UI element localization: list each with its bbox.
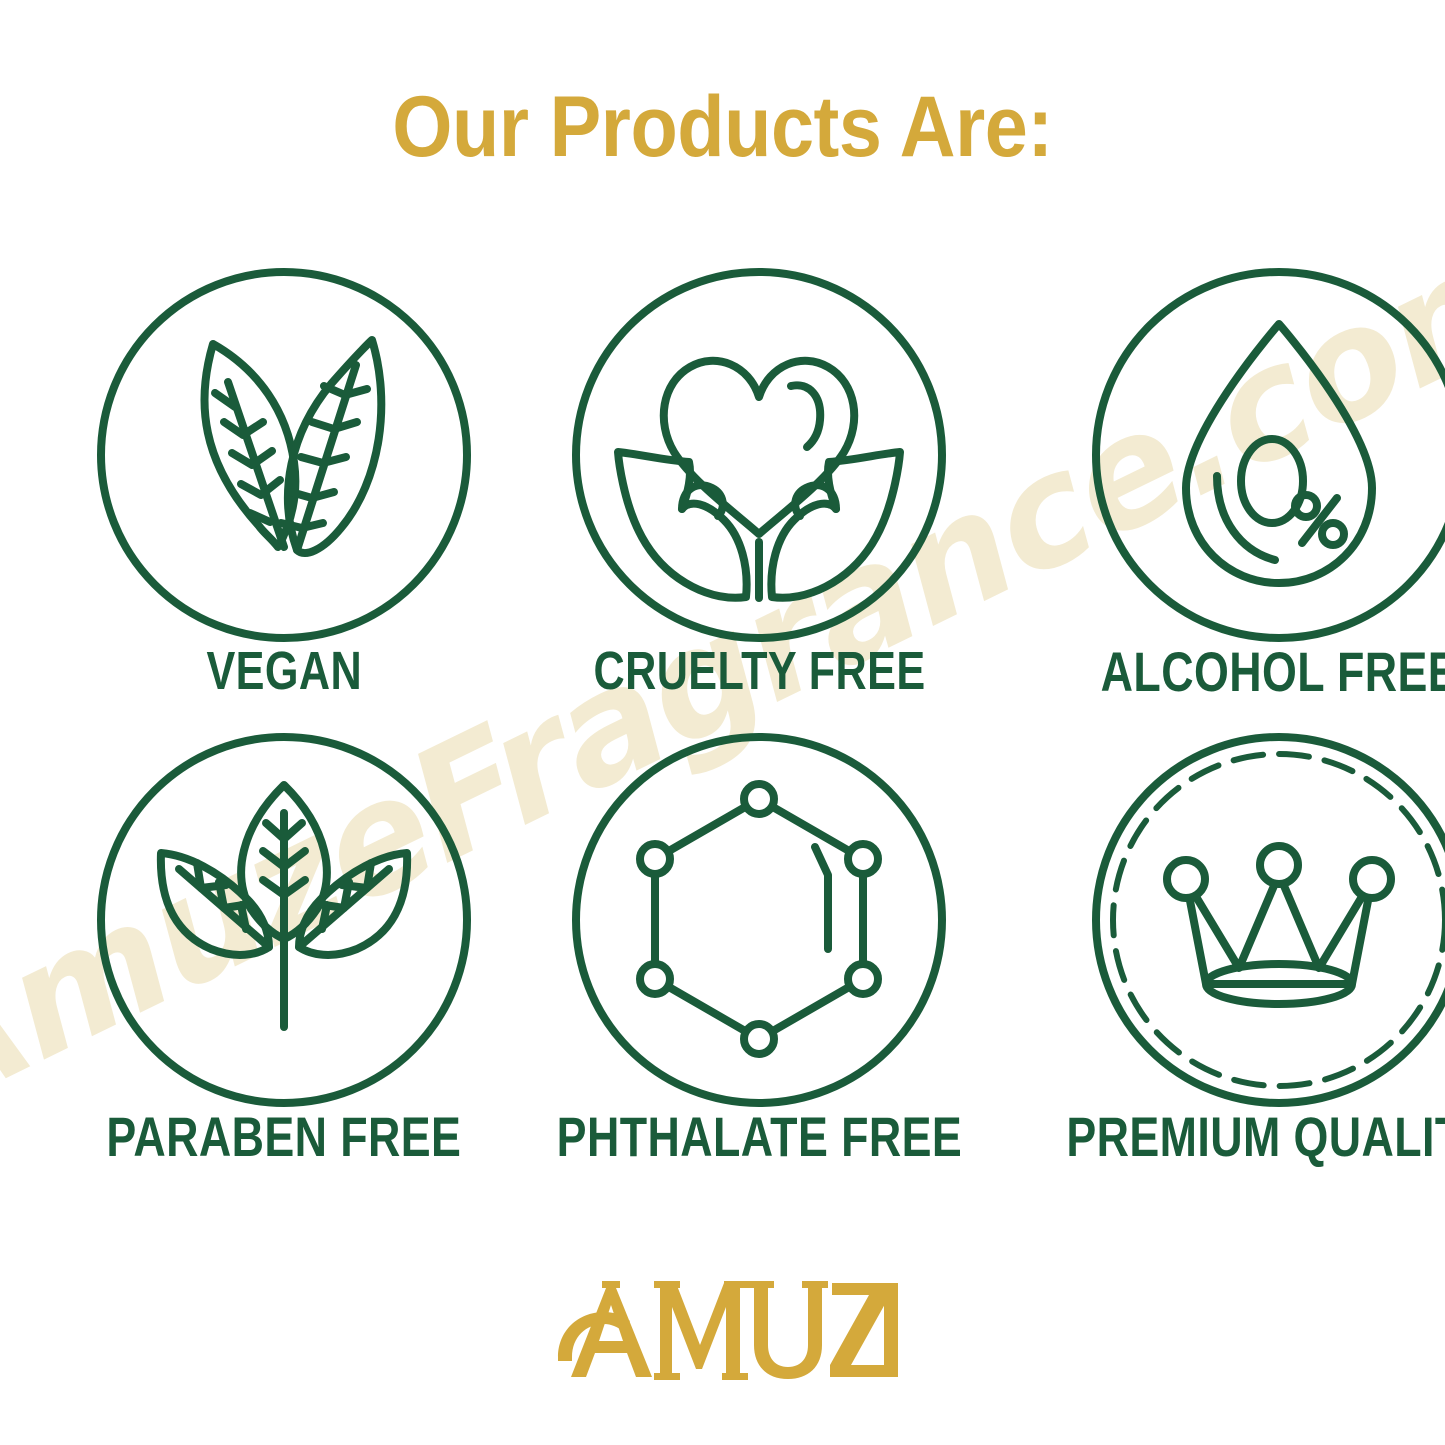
badge-phthalate-free: PHTHALATE FREE bbox=[506, 727, 1013, 1192]
badge-label: PARABEN FREE bbox=[106, 1109, 461, 1165]
badge-label: PREMIUM QUALITY bbox=[1066, 1109, 1445, 1165]
crown-icon bbox=[1086, 727, 1445, 1113]
three-leaf-plant-icon bbox=[91, 727, 477, 1113]
badge-paraben-free: PARABEN FREE bbox=[62, 727, 506, 1192]
water-drop-zero-percent-icon bbox=[1086, 262, 1445, 648]
hexagon-molecule-icon bbox=[566, 727, 952, 1113]
brand-logo: AMUZE bbox=[0, 1279, 1445, 1383]
badge-label: PHTHALATE FREE bbox=[556, 1109, 961, 1165]
badge-label: CRUELTY FREE bbox=[593, 644, 925, 698]
badge-alcohol-free: ALCOHOL FREE bbox=[1013, 262, 1445, 727]
badge-vegan: VEGAN bbox=[62, 262, 506, 727]
badge-cruelty-free: CRUELTY FREE bbox=[506, 262, 1013, 727]
badge-premium-quality: PREMIUM QUALITY bbox=[1013, 727, 1445, 1192]
badge-grid: VEGAN CRUELTY FREE bbox=[62, 262, 1392, 1192]
badge-label: VEGAN bbox=[206, 644, 362, 698]
badge-label: ALCOHOL FREE bbox=[1100, 644, 1445, 700]
two-leaves-icon bbox=[91, 262, 477, 648]
heart-in-hands-icon bbox=[566, 262, 952, 648]
page-title: Our Products Are: bbox=[72, 82, 1373, 172]
